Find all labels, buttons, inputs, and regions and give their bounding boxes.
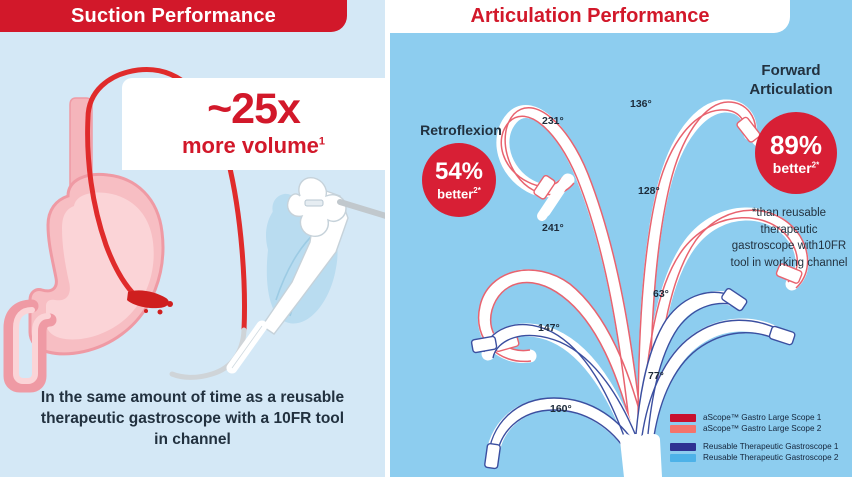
legend-swatch-reusable-2 [670, 454, 696, 462]
lesion-dot-2 [158, 310, 163, 315]
retroflexion-badge: 54% better2* [422, 143, 496, 217]
legend-label-ascope-2: aScope™ Gastro Large Scope 2 [703, 424, 821, 433]
legend-item: aScope™ Gastro Large Scope 1 [670, 412, 850, 423]
angle-77-label: 77° [648, 370, 664, 382]
suction-caption: In the same amount of time as a reusable… [40, 388, 345, 451]
volume-stat-label-text: more volume [182, 133, 319, 158]
chart-legend: aScope™ Gastro Large Scope 1 aScope™ Gas… [670, 412, 850, 470]
angle-147-label: 147° [538, 322, 560, 334]
scope-handle-button [305, 200, 323, 206]
legend-label-reusable-2: Reusable Therapeutic Gastroscope 2 [703, 453, 838, 462]
legend-label-ascope-1: aScope™ Gastro Large Scope 1 [703, 413, 821, 422]
lesion-dot-1 [167, 301, 173, 307]
legend-item: aScope™ Gastro Large Scope 2 [670, 423, 850, 434]
infographic-root: Suction Performance [0, 0, 852, 477]
articulation-footnote: *than reusable therapeutic gastroscope w… [728, 205, 850, 272]
legend-group-reusable: Reusable Therapeutic Gastroscope 1 Reusa… [670, 441, 850, 463]
volume-stat-label: more volume1 [182, 133, 325, 159]
angle-63-label: 63° [653, 288, 669, 300]
suction-performance-panel: Suction Performance [0, 0, 385, 477]
retroflexion-better: better2* [437, 187, 481, 200]
scope-shaft-bundle [626, 440, 656, 477]
retroflexion-percent: 54% [435, 160, 483, 184]
legend-item: Reusable Therapeutic Gastroscope 2 [670, 452, 850, 463]
angle-136-label: 136° [630, 98, 652, 110]
angle-160-label: 160° [550, 403, 572, 415]
retroflexion-better-text: better [437, 186, 473, 201]
legend-swatch-ascope-2 [670, 425, 696, 433]
angle-128-label: 128° [638, 185, 660, 197]
volume-stat-footnote-marker: 1 [319, 136, 325, 148]
forward-percent: 89% [770, 132, 822, 158]
retroflexion-footnote-marker: 2* [473, 186, 481, 195]
articulation-performance-panel: Articulation Performance [390, 0, 852, 477]
legend-item: Reusable Therapeutic Gastroscope 1 [670, 441, 850, 452]
forward-articulation-badge: 89% better2* [755, 112, 837, 194]
forward-articulation-label: Forward Articulation [732, 62, 850, 100]
legend-swatch-ascope-1 [670, 414, 696, 422]
legend-swatch-reusable-1 [670, 443, 696, 451]
handle-lower-outline [232, 326, 262, 368]
legend-group-ascope: aScope™ Gastro Large Scope 1 aScope™ Gas… [670, 412, 850, 434]
retroflexion-label: Retroflexion [405, 122, 517, 138]
legend-label-reusable-1: Reusable Therapeutic Gastroscope 1 [703, 442, 838, 451]
gloved-hand-illustration [232, 178, 385, 368]
forward-better-text: better [773, 160, 812, 176]
angle-241-label: 241° [542, 222, 564, 234]
lesion-dot-3 [144, 309, 148, 313]
angle-231-label: 231° [542, 115, 564, 127]
volume-stat-card: ~25x more volume1 [122, 78, 385, 170]
forward-better: better2* [773, 161, 819, 175]
forward-footnote-marker: 2* [812, 160, 820, 169]
volume-stat-value: ~25x [207, 88, 300, 131]
